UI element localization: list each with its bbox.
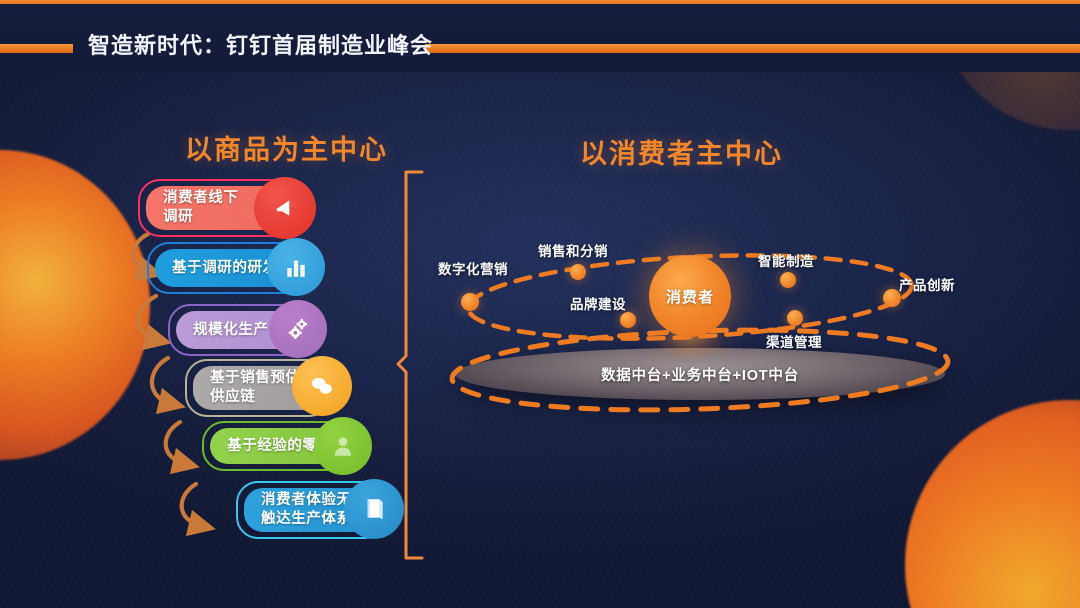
orbit-node[interactable] bbox=[780, 272, 796, 288]
orbit-node-label: 渠道管理 bbox=[766, 331, 822, 351]
platform-label: 数据中台+业务中台+IOT中台 bbox=[455, 364, 945, 385]
slide-canvas: 智造新时代：钉钉首届制造业峰会 以商品为主中心 以消费者主中心 消费者线下 调研 bbox=[0, 0, 1080, 608]
orbit-node[interactable] bbox=[620, 312, 636, 328]
orbit-node-label: 产品创新 bbox=[899, 274, 955, 294]
orbit-node-label: 销售和分销 bbox=[538, 240, 608, 260]
orbit-node-group: 数字化营销销售和分销品牌建设智能制造渠道管理产品创新 bbox=[0, 0, 1080, 608]
orbit-node[interactable] bbox=[570, 264, 586, 280]
orbit-node[interactable] bbox=[461, 293, 479, 311]
orbit-node-label: 智能制造 bbox=[758, 250, 814, 270]
orbit-node-label: 品牌建设 bbox=[570, 293, 626, 313]
orbit-node-label: 数字化营销 bbox=[438, 258, 508, 278]
orbit-node[interactable] bbox=[787, 310, 803, 326]
